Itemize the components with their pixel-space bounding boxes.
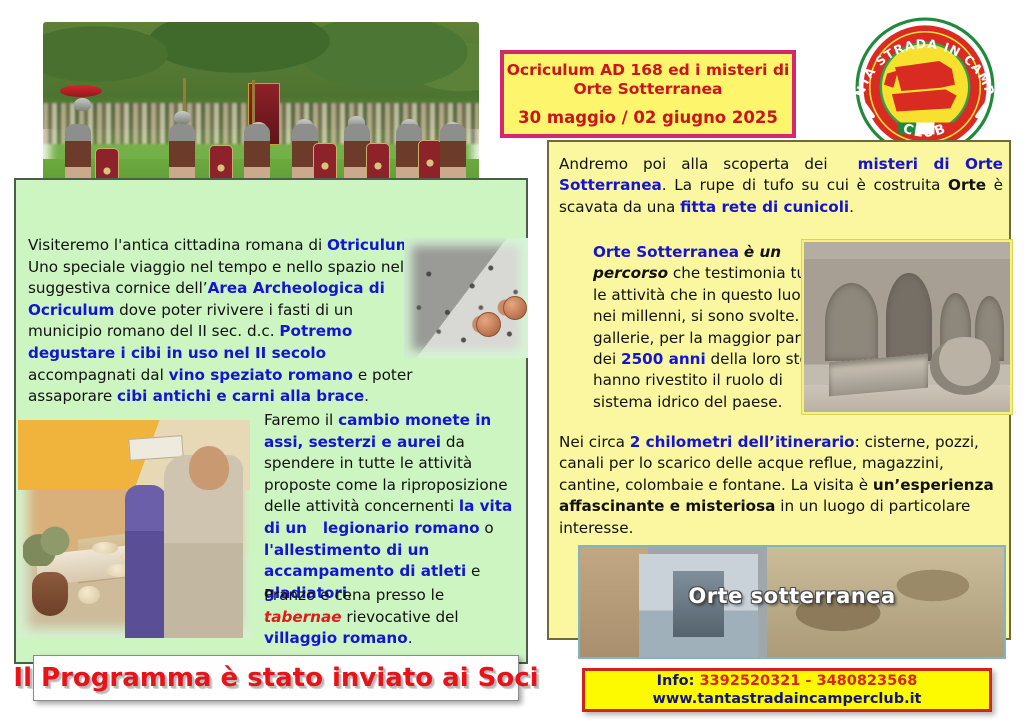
- market-herbs: [23, 516, 87, 566]
- cave-round-well: [930, 337, 1000, 395]
- coin-2: [503, 296, 527, 320]
- event-title-box: Ocriculum AD 168 ed i misteri di Orte So…: [500, 50, 796, 138]
- market-visitor: [125, 485, 167, 638]
- contact-info-label: Info: [657, 673, 689, 689]
- cave-arch-2: [886, 273, 931, 361]
- photo-coins-on-stone: [404, 238, 528, 358]
- left-paragraph-3: Pranzo e cena presso le tabernae rievoca…: [264, 585, 520, 650]
- event-title-line1: Ocriculum AD 168 ed i misteri di: [507, 61, 790, 80]
- contact-phone-numbers: 3392520321 - 3480823568: [699, 673, 917, 689]
- programme-sent-banner: Il Programma è stato inviato ai Soci: [33, 655, 519, 701]
- right-paragraph-3: Nei circa 2 chilometri dell’itinerario: …: [559, 432, 1005, 539]
- market-amphora: [32, 572, 68, 616]
- photo-roman-tabernae-market: [18, 420, 250, 638]
- programme-sent-banner-text: Il Programma è stato inviato ai Soci: [13, 663, 538, 693]
- event-dates: 30 maggio / 02 giugno 2025: [518, 108, 778, 128]
- left-paragraph-1: Visiteremo l'antica cittadina romana di …: [28, 235, 428, 408]
- event-title-line2: Orte Sotterranea: [573, 80, 722, 99]
- contact-info-box: Info: 3392520321 - 3480823568 www.tantas…: [582, 668, 992, 712]
- flyer-page: Ocriculum AD 168 ed i misteri di Orte So…: [0, 0, 1024, 724]
- photo-orte-sotterranea-tunnel: Orte sotterranea: [578, 545, 1006, 659]
- market-baker-head: [189, 446, 229, 490]
- tunnel-photo-caption: Orte sotterranea: [580, 584, 1004, 608]
- contact-website[interactable]: www.tantastradaincamperclub.it: [652, 690, 921, 708]
- cave-arch-1: [825, 283, 879, 361]
- contact-info-separator: :: [689, 673, 700, 689]
- photo-underground-chamber: [802, 240, 1012, 414]
- contact-phone-line: Info: 3392520321 - 3480823568: [657, 672, 918, 690]
- left-paragraph-2: Faremo il cambio monete in assi, sesterz…: [264, 410, 520, 604]
- right-paragraph-1: Andremo poi alla scoperta dei misteri di…: [559, 154, 1003, 218]
